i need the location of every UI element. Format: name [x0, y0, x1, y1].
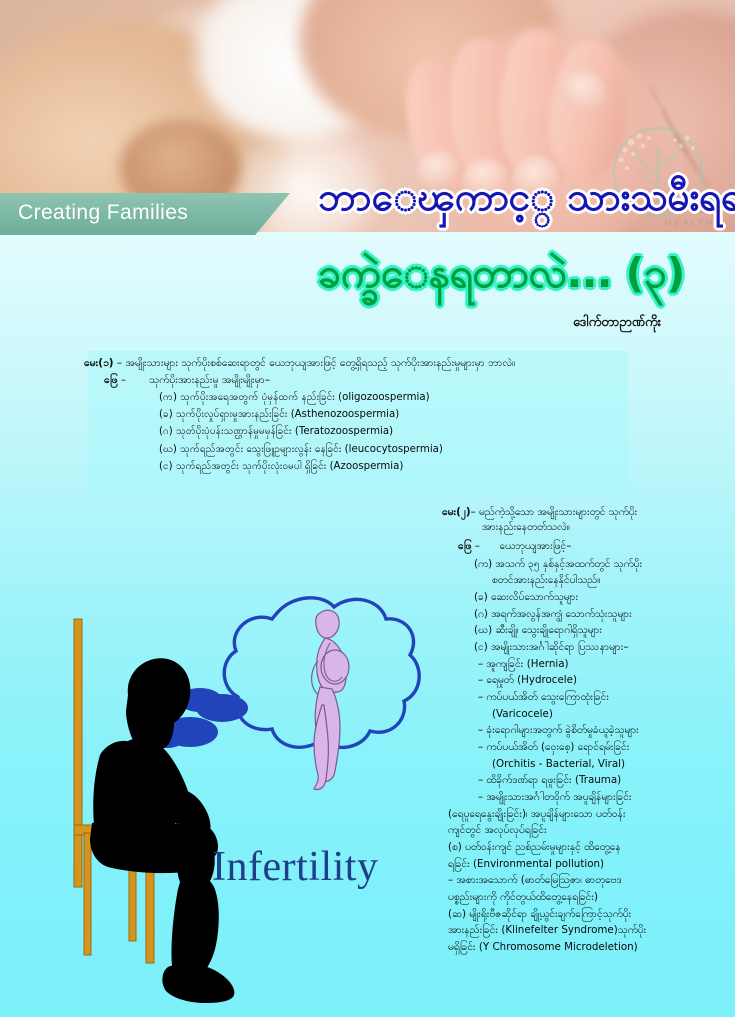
list-item: (က) သုက်ပိုးအရေအတွက် ပုံမှန်ထက် နည်းခြင်…	[159, 389, 640, 406]
pregnant-woman-figure	[312, 610, 349, 789]
article-title-line-2: ခက္ခဲေနရတာလဲ... (၃)	[318, 252, 718, 295]
list-item: – အူကျခြင်း (Hernia)	[474, 656, 730, 673]
list-item: (Orchitis - Bacterial, Viral)	[474, 756, 730, 773]
question-1-block: မေး(၁) – အမျိုးသားများ သုက်ပိုးစစ်ဆေးရာတ…	[84, 356, 640, 475]
list-item: (ဃ) သုက်ရည်အတွင်း သွေးဖြူဥများလွန်း နေခြ…	[159, 441, 640, 458]
list-item: (ခ) ဆေးလိပ်သောက်သူများ	[474, 589, 730, 606]
answer-2-intro: ယေဘုယျအားဖြင့်–	[499, 540, 571, 552]
list-item: – အစားအသောက် (ဓာတ်မြေဩဇာ၊ ဓာတုဗေဒ	[448, 872, 730, 889]
author-byline: ဒေါက်တာဉာဏ်ကိုး	[0, 314, 661, 333]
answer-2-label: ဖြေ	[458, 540, 471, 552]
list-item: (ဃ) ဆီးချို၊ သွေးချိုရောဂါရှိသူများ	[474, 622, 730, 639]
list-item: – အမျိုးသားအင်္ဂါတဝိုက် အပူချိန်များခြင်…	[474, 789, 730, 806]
list-item: (င) အမျိုးသားအင်္ဂါဆိုင်ရာ ပြဿနာများ–	[474, 639, 730, 656]
list-item: (က) အသက် ၃၅ နှစ်နှင့်အထက်တွင် သုက်ပိုး	[474, 556, 730, 573]
list-item: အားနည်းခြင်း (Klinefelter Syndrome)သုက်ပ…	[448, 922, 730, 939]
answer-1-heading: ဖြေ – သုက်ပိုးအားနည်းမှု အမျိုးမျိုးမှာ–	[84, 372, 640, 389]
question-2-text: မည်ကဲ့သို့သော အမျိုးသားများတွင် သုက်ပိုး	[479, 506, 637, 518]
question-2-text-cont: အားနည်းနေတတ်သလဲ။	[442, 520, 730, 535]
list-item: (စ) ပတ်ဝန်းကျင် ညစ်ညမ်းမှုများနှင့် ထိတွ…	[448, 839, 730, 856]
list-item: ကျင်တွင် အလုပ်လုပ်ရခြင်း	[448, 822, 730, 839]
infertility-illustration	[22, 575, 432, 1005]
question-2-block: မေး(၂)– မည်ကဲ့သို့သော အမျိုးသားများတွင် …	[434, 505, 730, 956]
answer-1-dash: –	[121, 374, 126, 386]
list-item: (Varicocele)	[474, 706, 730, 723]
answer-2-heading: ဖြေ – ယေဘုယျအားဖြင့်–	[434, 538, 730, 555]
question-1-text: အမျိုးသားများ သုက်ပိုးစစ်ဆေးရာတွင် ယေဘုယ…	[125, 357, 515, 369]
list-item: (ဂ) အရက်အလွန်အကျွံ သောက်သုံးသူများ	[474, 606, 730, 623]
list-item: (ရေပူရေနွေးချိုးခြင်း)၊ အပူချိန်များသော …	[448, 806, 730, 823]
list-item: (ဂ) သုတ်ပိုးပုံပန်းသဏ္ဌာန်မှုမမှန်ခြင်း …	[159, 423, 640, 440]
list-item: (င) သုက်ရည်အတွင်း သုက်ပိုးလုံးဝမပါ ရှိခြ…	[159, 458, 640, 475]
answer-2-dash: –	[475, 540, 480, 552]
question-2-heading: မေး(၂)– မည်ကဲ့သို့သော အမျိုးသားများတွင် …	[434, 505, 730, 536]
list-item: – ရေမှုတ် (Hydrocele)	[474, 672, 730, 689]
list-item: စတင်အားနည်းနေနိုင်ပါသည်။	[474, 572, 730, 589]
question-1-dash: –	[117, 357, 122, 369]
article-page: isis HEALTH Creating Families ဘာေၾကာင့္ …	[0, 0, 735, 1017]
list-item: – ကပ်ပယ်အိတ် (ဝှေးစေ့) ရောင်ရမ်းခြင်း	[474, 739, 730, 756]
question-2-item-list: (က) အသက် ၃၅ နှစ်နှင့်အထက်တွင် သုက်ပိုးစတ…	[434, 556, 730, 956]
list-item: – ထိခိုက်ဒဏ်ရာ ရဖူးခြင်း (Trauma)	[474, 772, 730, 789]
list-item: – ကပ်ပယ်အိတ် သွေးကြောထုံးခြင်း	[474, 689, 730, 706]
infertility-caption: Infertility	[212, 843, 378, 891]
list-item: (ခ) သုက်ပိုးလှုပ်ရှားမှုအားနည်းခြင်း (As…	[159, 406, 640, 423]
list-item: မရှိခြင်း (Y Chromosome Microdeletion)	[448, 939, 730, 956]
question-1-heading: မေး(၁) – အမျိုးသားများ သုက်ပိုးစစ်ဆေးရာတ…	[84, 356, 640, 372]
answer-1-intro: သုက်ပိုးအားနည်းမှု အမျိုးမျိုးမှာ–	[149, 374, 270, 386]
article-title-line-1: ဘာေၾကာင့္ သားသမီးရရန္	[318, 178, 718, 219]
question-2-dash: –	[471, 506, 476, 518]
question-1-item-list: (က) သုက်ပိုးအရေအတွက် ပုံမှန်ထက် နည်းခြင်…	[84, 389, 640, 476]
list-item: ရခြင်း (Environmental pollution)	[448, 856, 730, 873]
creating-families-label: Creating Families	[18, 201, 188, 225]
answer-1-label: ဖြေ	[104, 374, 118, 386]
question-2-label: မေး(၂)	[442, 506, 471, 518]
list-item: (ဆ) မျိုးရိုးဗီဇဆိုင်ရာ ချို့ယွင်းချက်ကြ…	[448, 906, 730, 923]
question-1-label: မေး(၁)	[84, 357, 114, 369]
list-item: ပစ္စည်းများကို ကိုင်တွယ်ထိတွေ့နေရခြင်း)	[448, 889, 730, 906]
list-item: – ခုံးရောဂါများအတွက် ခွဲစိတ်မှုခံယူခဲ့သူ…	[474, 722, 730, 739]
